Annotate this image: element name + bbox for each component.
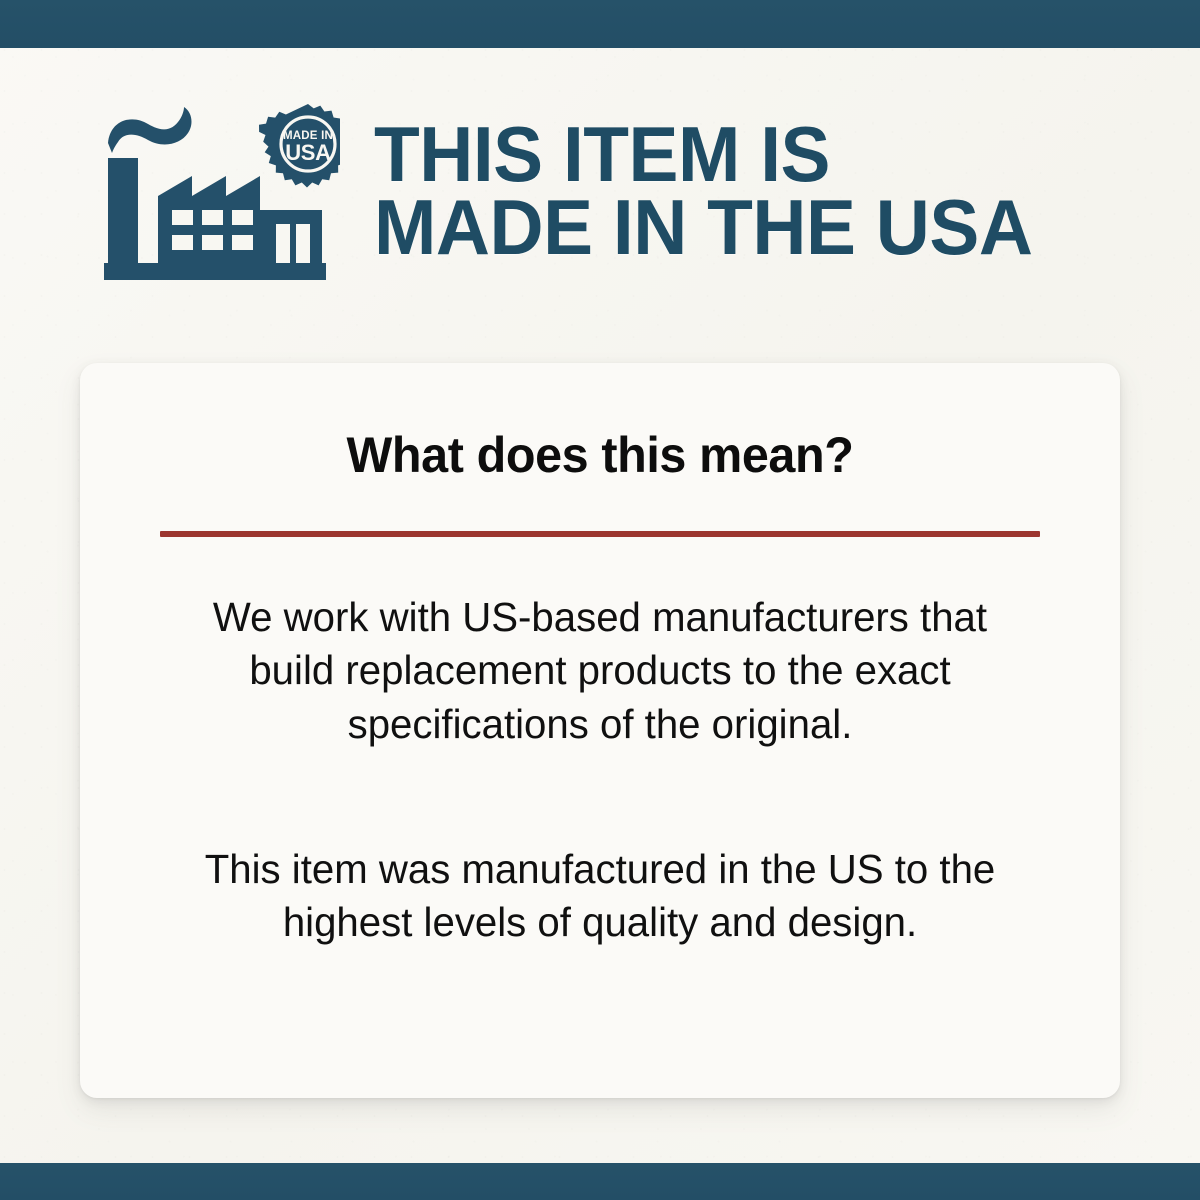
card-paragraph-2: This item was manufactured in the US to … [169, 843, 1031, 950]
top-accent-band [0, 0, 1200, 48]
card-paragraph-1: We work with US-based manufacturers that… [169, 591, 1031, 751]
page-title: THIS ITEM IS MADE IN THE USA [374, 118, 1032, 263]
smoke-plume-icon [108, 107, 191, 153]
title-line-1: THIS ITEM IS [374, 118, 1032, 191]
title-line-2: MADE IN THE USA [374, 191, 1032, 264]
made-in-usa-badge-icon: MADE IN USA [259, 104, 340, 188]
card-divider [160, 531, 1040, 537]
smokestack [108, 158, 138, 263]
header: MADE IN USA THIS ITEM IS MADE IN THE USA [0, 86, 1200, 296]
bottom-accent-band [0, 1163, 1200, 1200]
info-card: What does this mean? We work with US-bas… [80, 363, 1120, 1098]
badge-line-2: USA [285, 140, 331, 165]
card-heading: What does this mean? [96, 363, 1105, 484]
factory-made-in-usa-icon: MADE IN USA [100, 98, 340, 288]
